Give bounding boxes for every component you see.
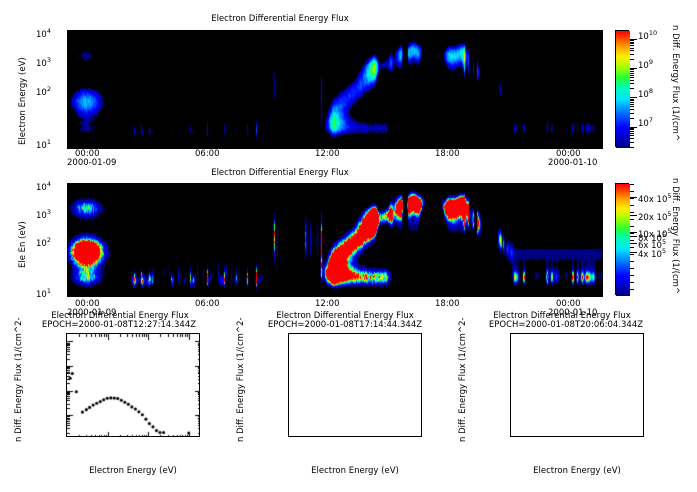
tick-mark — [630, 71, 634, 72]
spectrum3-plot — [510, 333, 644, 437]
tick-mark — [594, 76, 600, 77]
tick-mark — [68, 271, 71, 272]
tick-mark — [630, 48, 634, 49]
tick-mark — [259, 142, 260, 147]
panel2-ytick-0: 104 — [36, 180, 51, 193]
tick-mark — [259, 31, 260, 36]
tick-mark — [68, 46, 71, 47]
tick-mark — [110, 184, 111, 189]
spectrum1-ylabel: n Diff. Energy Flux (1/(cm^2- — [14, 442, 139, 452]
tick-mark — [345, 142, 346, 147]
tick-mark — [597, 95, 600, 96]
panel1-ytick-2: 102 — [36, 85, 51, 98]
tick-mark — [597, 136, 600, 137]
tick-mark — [68, 211, 71, 212]
spectrum2-subtitle: EPOCH=2000-01-08T17:14:44.344Z — [234, 320, 456, 330]
tick-mark — [630, 147, 634, 148]
tick-mark — [430, 184, 431, 189]
tick-mark — [630, 240, 634, 241]
tick-mark — [630, 45, 634, 46]
tick-mark — [597, 51, 600, 52]
tick-mark — [174, 290, 175, 295]
p2y3e: 1 — [47, 287, 51, 295]
tick-mark — [68, 44, 71, 45]
cb1-t2m: 10 — [638, 90, 649, 100]
tick-mark — [333, 287, 334, 295]
panel1-ytick-0-mant: 10 — [36, 30, 47, 40]
tick-mark — [131, 184, 132, 189]
tick-mark — [68, 41, 74, 42]
tick-mark — [537, 142, 538, 147]
tick-mark — [366, 31, 367, 36]
tick-mark — [281, 142, 282, 147]
tick-mark — [630, 215, 637, 216]
tick-mark — [333, 184, 334, 192]
p2cb-mant-0: 40x 10 — [638, 195, 667, 205]
panel1-ytick-2-mant: 10 — [36, 88, 47, 98]
tick-mark — [323, 142, 324, 147]
tick-mark — [345, 184, 346, 189]
spectrum2-plot — [288, 333, 422, 437]
tick-mark — [537, 31, 538, 36]
tick-mark — [630, 75, 634, 76]
panel2-xtick-3: 18:00 — [435, 299, 460, 309]
tick-mark — [323, 184, 324, 189]
panel2-title: Electron Differential Energy Flux — [0, 168, 560, 178]
tick-mark — [458, 139, 459, 147]
tick-mark — [110, 290, 111, 295]
tick-mark — [68, 80, 71, 81]
tick-mark — [68, 237, 71, 238]
tick-mark — [68, 65, 71, 66]
tick-mark — [630, 99, 634, 100]
tick-mark — [68, 217, 71, 218]
tick-mark — [630, 198, 634, 199]
tick-mark — [597, 101, 600, 102]
tick-mark — [281, 290, 282, 295]
tick-mark — [630, 83, 634, 84]
tick-mark — [597, 217, 600, 218]
panel2-cbar-tick-1: 20x 105 — [638, 210, 672, 223]
tick-mark — [630, 40, 634, 41]
tick-mark — [68, 198, 71, 199]
tick-mark — [195, 290, 196, 295]
panel1-ytick-1-mant: 10 — [36, 59, 47, 69]
tick-mark — [597, 203, 600, 204]
tick-mark — [630, 233, 634, 234]
tick-mark — [597, 65, 600, 66]
tick-mark — [630, 73, 634, 74]
tick-mark — [597, 87, 600, 88]
tick-mark — [582, 287, 583, 295]
spectrum2-ylabel: n Diff. Energy Flux (1/(cm^2- — [236, 442, 361, 452]
tick-mark — [174, 184, 175, 189]
tick-mark — [68, 147, 74, 148]
tick-mark — [430, 290, 431, 295]
tick-mark — [580, 290, 581, 295]
tick-mark — [68, 197, 71, 198]
spectrum1-subtitle: EPOCH=2000-01-08T12:27:14.344Z — [8, 320, 230, 330]
tick-mark — [630, 142, 634, 143]
tick-mark — [68, 275, 71, 276]
tick-mark — [302, 142, 303, 147]
tick-mark — [208, 31, 209, 39]
cb1-t0m: 10 — [638, 32, 649, 42]
tick-mark — [217, 290, 218, 295]
tick-mark — [597, 198, 600, 199]
tick-mark — [580, 184, 581, 189]
panel1-colorbar-canvas — [616, 31, 630, 148]
tick-mark — [630, 100, 634, 101]
panel2-ylabel: Ele En (eV) — [18, 268, 65, 278]
tick-mark — [630, 184, 634, 185]
tick-mark — [473, 31, 474, 36]
panel1-cbar-tick-3: 107 — [638, 116, 653, 129]
tick-mark — [473, 184, 474, 189]
tick-mark — [195, 142, 196, 147]
tick-mark — [68, 30, 71, 31]
tick-mark — [597, 84, 600, 85]
tick-mark — [208, 184, 209, 192]
tick-mark — [68, 241, 71, 242]
tick-mark — [630, 243, 637, 244]
tick-mark — [238, 31, 239, 36]
tick-mark — [68, 245, 71, 246]
panel1-xdate-right: 2000-01-10 — [548, 158, 597, 168]
tick-mark — [597, 122, 600, 123]
tick-mark — [630, 205, 634, 206]
tick-mark — [582, 139, 583, 147]
tick-mark — [68, 279, 71, 280]
panel1-cbar-tick-1: 109 — [638, 58, 653, 71]
tick-mark — [68, 78, 71, 79]
tick-mark — [281, 31, 282, 36]
tick-mark — [68, 115, 71, 116]
tick-mark — [597, 183, 600, 184]
tick-mark — [333, 139, 334, 147]
tick-mark — [323, 31, 324, 36]
tick-mark — [630, 54, 634, 55]
panel1-cbar-tick-2: 108 — [638, 87, 653, 100]
panel2-ytick-3: 101 — [36, 287, 51, 300]
p2y1m: 10 — [36, 211, 47, 221]
tick-mark — [88, 290, 89, 295]
tick-mark — [630, 226, 634, 227]
tick-mark — [430, 31, 431, 36]
tick-mark — [597, 211, 600, 212]
tick-mark — [68, 95, 71, 96]
tick-mark — [597, 80, 600, 81]
tick-mark — [630, 69, 634, 70]
panel1-colorbar — [615, 30, 629, 147]
tick-mark — [68, 113, 71, 114]
tick-mark — [630, 50, 634, 51]
tick-mark — [597, 59, 600, 60]
cb1-t1m: 10 — [638, 61, 649, 71]
panel2-spectrogram — [67, 183, 603, 297]
spectrum2-canvas — [289, 334, 422, 437]
tick-mark — [430, 142, 431, 147]
tick-mark — [302, 290, 303, 295]
tick-mark — [68, 119, 71, 120]
tick-mark — [68, 183, 71, 184]
tick-mark — [68, 266, 71, 267]
tick-mark — [84, 31, 85, 39]
tick-mark — [630, 128, 634, 129]
tick-mark — [174, 31, 175, 36]
tick-mark — [152, 290, 153, 295]
tick-mark — [630, 135, 634, 136]
tick-mark — [68, 251, 71, 252]
tick-mark — [630, 129, 634, 130]
tick-mark — [630, 104, 634, 105]
tick-mark — [597, 230, 600, 231]
tick-mark — [597, 271, 600, 272]
p2y0e: 4 — [47, 180, 51, 188]
tick-mark — [208, 139, 209, 147]
tick-mark — [68, 201, 71, 202]
tick-mark — [597, 235, 600, 236]
tick-mark — [451, 184, 452, 189]
tick-mark — [494, 184, 495, 189]
tick-mark — [594, 112, 600, 113]
tick-mark — [597, 195, 600, 196]
tick-mark — [630, 212, 634, 213]
p2y2m: 10 — [36, 239, 47, 249]
tick-mark — [594, 41, 600, 42]
panel1-ytick-1-exp: 3 — [47, 56, 51, 64]
panel2-ytick-1: 103 — [36, 208, 51, 221]
tick-mark — [68, 207, 71, 208]
p2y0m: 10 — [36, 183, 47, 193]
cb1-t1e: 9 — [649, 58, 653, 66]
tick-mark — [68, 295, 74, 296]
tick-mark — [458, 287, 459, 295]
tick-mark — [558, 142, 559, 147]
tick-mark — [594, 227, 600, 228]
tick-mark — [68, 51, 71, 52]
tick-mark — [597, 229, 600, 230]
tick-mark — [630, 106, 634, 107]
tick-mark — [302, 31, 303, 36]
tick-mark — [68, 112, 74, 113]
tick-mark — [516, 31, 517, 36]
tick-mark — [597, 207, 600, 208]
panel2-xtick-1: 06:00 — [195, 299, 220, 309]
tick-mark — [110, 31, 111, 36]
tick-mark — [68, 195, 71, 196]
tick-mark — [597, 245, 600, 246]
tick-mark — [630, 43, 634, 44]
tick-mark — [630, 275, 634, 276]
tick-mark — [451, 31, 452, 36]
tick-mark — [630, 268, 634, 269]
panel2-canvas — [68, 184, 602, 296]
tick-mark — [630, 131, 634, 132]
tick-mark — [630, 254, 634, 255]
panel1-xtick-1: 06:00 — [195, 149, 220, 159]
tick-mark — [366, 142, 367, 147]
tick-mark — [366, 290, 367, 295]
tick-mark — [597, 241, 600, 242]
panel1-ytick-0: 104 — [36, 27, 51, 40]
tick-mark — [597, 119, 600, 120]
tick-mark — [302, 184, 303, 189]
tick-mark — [68, 263, 71, 264]
tick-mark — [630, 133, 634, 134]
tick-mark — [68, 76, 74, 77]
tick-mark — [630, 77, 634, 78]
tick-mark — [345, 290, 346, 295]
tick-mark — [597, 285, 600, 286]
tick-mark — [630, 236, 637, 237]
tick-mark — [597, 237, 600, 238]
tick-mark — [630, 42, 634, 43]
panel1-canvas — [68, 31, 602, 148]
tick-mark — [68, 229, 71, 230]
tick-mark — [597, 55, 600, 56]
tick-mark — [217, 142, 218, 147]
tick-mark — [594, 193, 600, 194]
tick-mark — [152, 184, 153, 189]
tick-mark — [597, 126, 600, 127]
tick-mark — [259, 290, 260, 295]
p2y3m: 10 — [36, 290, 47, 300]
tick-mark — [68, 232, 71, 233]
tick-mark — [597, 113, 600, 114]
tick-mark — [597, 264, 600, 265]
tick-mark — [68, 235, 71, 236]
tick-mark — [558, 31, 559, 36]
tick-mark — [68, 130, 71, 131]
panel1-colorbar-label: n Diff. Energy Flux (1/(cm^ — [680, 25, 697, 35]
tick-mark — [409, 142, 410, 147]
tick-mark — [630, 252, 637, 253]
p2cb-exp-4: 5 — [662, 238, 666, 246]
tick-mark — [597, 90, 600, 91]
tick-mark — [597, 279, 600, 280]
tick-mark — [68, 193, 74, 194]
p2y1e: 3 — [47, 208, 51, 216]
panel2-cbar-tick-5: 4x 105 — [638, 247, 666, 260]
tick-mark — [458, 31, 459, 39]
tick-mark — [458, 184, 459, 192]
panel2-colorbar — [615, 183, 629, 295]
tick-mark — [597, 201, 600, 202]
tick-mark — [68, 55, 71, 56]
spectrum1-plot — [66, 333, 200, 437]
tick-mark — [597, 197, 600, 198]
tick-mark — [630, 102, 634, 103]
tick-mark — [594, 147, 600, 148]
tick-mark — [537, 184, 538, 189]
spectrum1-canvas — [67, 334, 200, 437]
tick-mark — [131, 290, 132, 295]
tick-mark — [597, 251, 600, 252]
tick-mark — [630, 247, 634, 248]
tick-mark — [494, 31, 495, 36]
tick-mark — [630, 191, 634, 192]
tick-mark — [597, 42, 600, 43]
tick-mark — [345, 31, 346, 36]
tick-mark — [68, 82, 71, 83]
tick-mark — [594, 295, 600, 296]
tick-mark — [217, 31, 218, 36]
tick-mark — [597, 115, 600, 116]
tick-mark — [594, 261, 600, 262]
tick-mark — [494, 290, 495, 295]
tick-mark — [195, 184, 196, 189]
tick-mark — [597, 82, 600, 83]
tick-mark — [68, 227, 74, 228]
tick-mark — [68, 59, 71, 60]
tick-mark — [68, 122, 71, 123]
tick-mark — [597, 30, 600, 31]
tick-mark — [152, 142, 153, 147]
tick-mark — [281, 184, 282, 189]
tick-mark — [333, 31, 334, 39]
tick-mark — [409, 31, 410, 36]
tick-mark — [88, 184, 89, 189]
spectrum3-canvas — [511, 334, 644, 437]
tick-mark — [387, 142, 388, 147]
tick-mark — [217, 184, 218, 189]
tick-mark — [630, 282, 634, 283]
spectrum3-xlabel: Electron Energy (eV) — [510, 466, 644, 476]
tick-mark — [494, 142, 495, 147]
tick-mark — [68, 49, 71, 50]
tick-mark — [597, 44, 600, 45]
panel1-xdate-left: 2000-01-09 — [67, 158, 116, 168]
panel1-title: Electron Differential Energy Flux — [0, 14, 560, 24]
tick-mark — [110, 142, 111, 147]
tick-mark — [630, 219, 634, 220]
tick-mark — [68, 264, 71, 265]
tick-mark — [88, 142, 89, 147]
tick-mark — [88, 31, 89, 36]
tick-mark — [451, 290, 452, 295]
tick-mark — [451, 142, 452, 147]
tick-mark — [630, 113, 634, 114]
spectrum3-ylabel: n Diff. Energy Flux (1/(cm^2- — [458, 442, 583, 452]
panel1-xtick-2: 12:00 — [315, 149, 340, 159]
tick-mark — [630, 109, 634, 110]
tick-mark — [597, 46, 600, 47]
panel1-ytick-0-exp: 4 — [47, 27, 51, 35]
tick-mark — [68, 117, 71, 118]
tick-mark — [68, 269, 71, 270]
tick-mark — [597, 266, 600, 267]
tick-mark — [131, 31, 132, 36]
panel1-ytick-1: 103 — [36, 56, 51, 69]
tick-mark — [323, 290, 324, 295]
cb1-t3m: 10 — [638, 119, 649, 129]
tick-mark — [387, 290, 388, 295]
panel2-cbar-tick-0: 40x 105 — [638, 192, 672, 205]
tick-mark — [597, 49, 600, 50]
tick-mark — [558, 290, 559, 295]
tick-mark — [409, 290, 410, 295]
tick-mark — [84, 139, 85, 147]
tick-mark — [68, 203, 71, 204]
tick-mark — [597, 232, 600, 233]
tick-mark — [580, 142, 581, 147]
tick-mark — [473, 290, 474, 295]
panel1-ytick-3: 101 — [36, 138, 51, 151]
tick-mark — [238, 290, 239, 295]
tick-mark — [387, 31, 388, 36]
tick-mark — [630, 261, 634, 262]
